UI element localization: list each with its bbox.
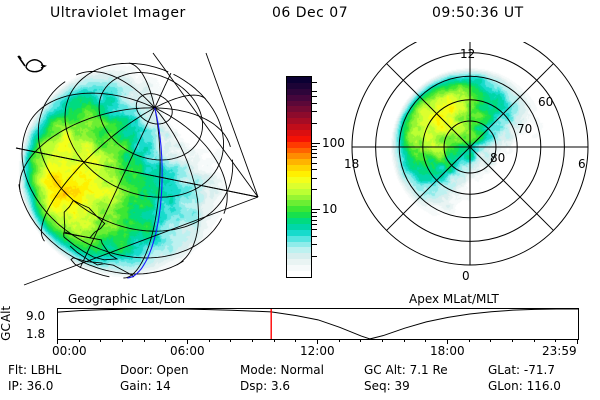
ytick-top: 9.0 bbox=[26, 310, 45, 322]
status-row-1: Flt: LBHL Door: Open Mode: Normal GC Alt… bbox=[0, 363, 600, 379]
colorbar-ticks bbox=[312, 76, 320, 278]
status-gcalt: GC Alt: 7.1 Re bbox=[364, 363, 448, 377]
colorbar-minor-tick bbox=[312, 157, 317, 158]
altplot-frame[interactable] bbox=[57, 308, 579, 340]
altplot-xtick-minor bbox=[79, 340, 80, 342]
altplot-xtick-minor bbox=[425, 340, 426, 342]
colorbar-minor-tick bbox=[312, 123, 317, 124]
status-glat: GLat: -71.7 bbox=[488, 363, 555, 377]
status-mode: Mode: Normal bbox=[240, 363, 324, 377]
status-gain: Gain: 14 bbox=[120, 379, 171, 393]
colorbar-minor-tick bbox=[312, 82, 317, 83]
colorbar-minor-tick bbox=[312, 216, 317, 217]
polar-label-mlt-12: 12 bbox=[460, 48, 475, 60]
colorbar-minor-tick bbox=[312, 236, 317, 237]
altplot-xtick-minor bbox=[230, 340, 231, 342]
colorbar-panel: photon cm-2s-1 10010 bbox=[262, 60, 354, 295]
altplot-xtick-minor bbox=[339, 340, 340, 342]
altplot-xlabel-1800: 18:00 bbox=[430, 344, 465, 358]
polar-label-mlt-18: 18 bbox=[344, 158, 359, 170]
status-dsp: Dsp: 3.6 bbox=[240, 379, 290, 393]
colorbar-gradient bbox=[286, 76, 312, 278]
instrument-title: Ultraviolet Imager bbox=[50, 5, 186, 21]
colorbar-minor-tick bbox=[312, 212, 317, 213]
status-seq: Seq: 39 bbox=[364, 379, 410, 393]
altplot-xtick-minor bbox=[122, 340, 123, 342]
altplot-xlabels: 00:0006:0012:0018:0023:59 bbox=[0, 344, 600, 360]
colorbar-minor-tick bbox=[312, 244, 317, 245]
status-panel: Flt: LBHL Door: Open Mode: Normal GC Alt… bbox=[0, 363, 600, 397]
altplot-xlabel-0600: 06:00 bbox=[170, 344, 205, 358]
polar-label-lat-80: 80 bbox=[490, 152, 505, 164]
colorbar-minor-tick bbox=[312, 220, 317, 221]
header-bar: Ultraviolet Imager 06 Dec 07 09:50:36 UT bbox=[0, 5, 600, 27]
colorbar-minor-tick bbox=[312, 224, 317, 225]
observation-date: 06 Dec 07 bbox=[272, 5, 348, 21]
status-glon: GLon: 116.0 bbox=[488, 379, 561, 393]
status-flt: Flt: LBHL bbox=[8, 363, 61, 377]
colorbar-minor-tick bbox=[312, 96, 317, 97]
altplot-xlabel-1200: 12:00 bbox=[300, 344, 335, 358]
apex-polar-panel[interactable]: 12 6 18 0 60 70 80 bbox=[342, 42, 594, 294]
polar-label-lat-70: 70 bbox=[517, 123, 532, 135]
colorbar-minor-tick bbox=[312, 153, 317, 154]
subtitle-geographic: Geographic Lat/Lon bbox=[68, 292, 185, 306]
globe-graticule-overlay bbox=[8, 45, 266, 295]
polar-label-mlt-0: 0 bbox=[462, 270, 470, 282]
altplot-xtick-minor bbox=[252, 340, 253, 342]
status-ip: IP: 36.0 bbox=[8, 379, 53, 393]
altplot-xtick-minor bbox=[512, 340, 513, 342]
status-door: Door: Open bbox=[120, 363, 189, 377]
colorbar-minor-tick bbox=[312, 163, 317, 164]
geographic-globe-panel[interactable] bbox=[8, 45, 266, 295]
colorbar-tick-label-10: 10 bbox=[322, 203, 337, 215]
altplot-xtick-minor bbox=[490, 340, 491, 342]
altplot-xtick-minor bbox=[382, 340, 383, 342]
subtitle-apex: Apex MLat/MLT bbox=[409, 292, 499, 306]
colorbar-major-tick bbox=[312, 143, 320, 144]
colorbar-minor-tick bbox=[312, 146, 317, 147]
colorbar-minor-tick bbox=[312, 256, 317, 257]
colorbar-minor-tick bbox=[312, 149, 317, 150]
colorbar-minor-tick bbox=[312, 229, 317, 230]
colorbar-major-tick bbox=[312, 209, 320, 210]
altplot-xtick-minor bbox=[360, 340, 361, 342]
status-row-2: IP: 36.0 Gain: 14 Dsp: 3.6 Seq: 39 GLon:… bbox=[0, 379, 600, 395]
altplot-xtick-minor bbox=[534, 340, 535, 342]
altplot-xlabel-0000: 00:00 bbox=[52, 344, 87, 358]
altplot-xtick-minor bbox=[274, 340, 275, 342]
polar-label-lat-60: 60 bbox=[538, 96, 553, 108]
altplot-subtitles: Geographic Lat/Lon Apex MLat/MLT bbox=[0, 292, 600, 306]
observation-time: 09:50:36 UT bbox=[432, 5, 524, 21]
altplot-xtick-minor bbox=[295, 340, 296, 342]
altplot-xtick-minor bbox=[209, 340, 210, 342]
colorbar-minor-tick bbox=[312, 91, 317, 92]
colorbar-minor-tick bbox=[312, 103, 317, 104]
altplot-xlabel-2359: 23:59 bbox=[542, 344, 577, 358]
colorbar-minor-tick bbox=[312, 111, 317, 112]
polar-label-mlt-6: 6 bbox=[578, 158, 586, 170]
altplot-xtick-minor bbox=[165, 340, 166, 342]
colorbar-minor-tick bbox=[312, 178, 317, 179]
polar-grid-overlay bbox=[342, 42, 594, 294]
colorbar-minor-tick bbox=[312, 169, 317, 170]
ytick-bottom: 1.8 bbox=[26, 328, 45, 340]
altplot-xtick-minor bbox=[100, 340, 101, 342]
altplot-xtick-minor bbox=[144, 340, 145, 342]
altplot-xtick-minor bbox=[469, 340, 470, 342]
colorbar-minor-tick bbox=[312, 189, 317, 190]
colorbar-band bbox=[287, 271, 311, 277]
altplot-xtick-minor bbox=[555, 340, 556, 342]
altplot-xtick-minor bbox=[404, 340, 405, 342]
